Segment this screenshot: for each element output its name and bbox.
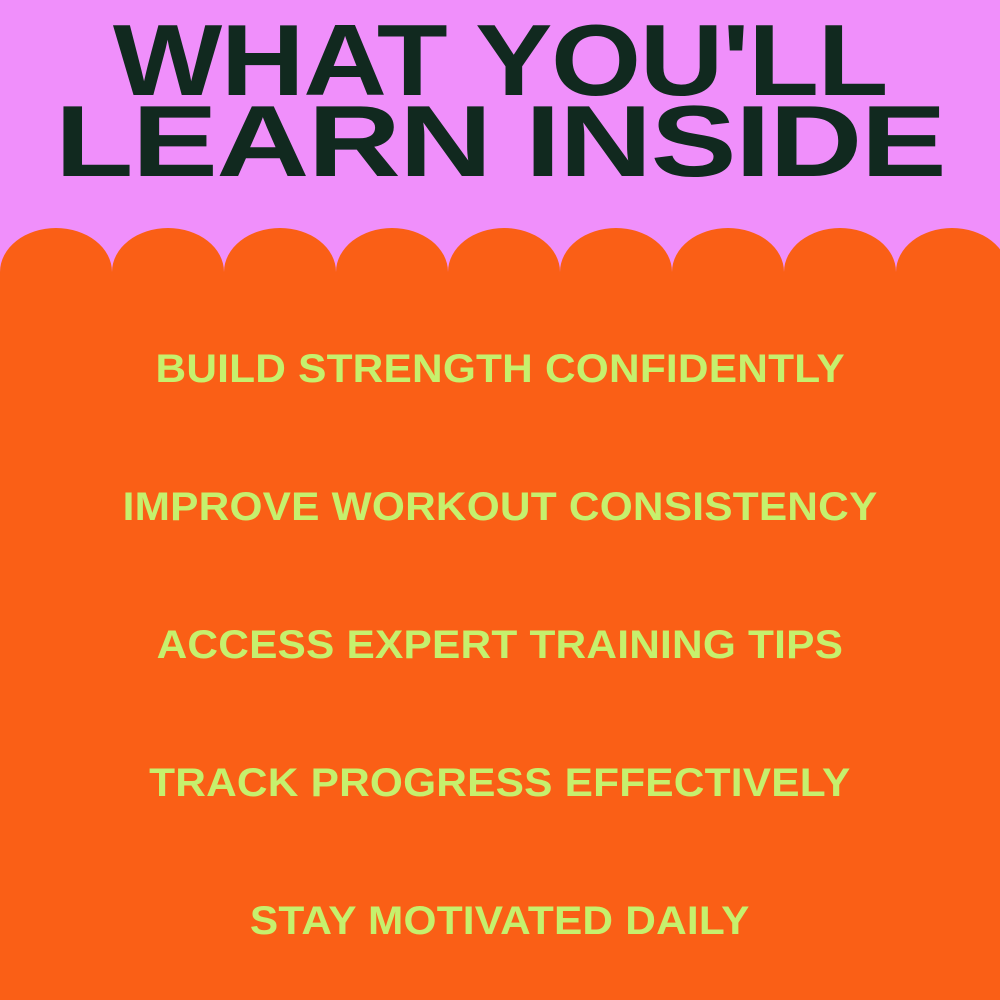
page-title-line-2: LEARN INSIDE [0, 102, 1000, 185]
benefit-label-3: ACCESS EXPERT TRAINING TIPS [157, 625, 844, 665]
benefit-label-5: STAY MOTIVATED DAILY [250, 901, 750, 941]
list-item: STAY MOTIVATED DAILY [0, 852, 1000, 990]
page-title: WHAT YOU'LL LEARN INSIDE [0, 24, 1000, 181]
list-item: TRACK PROGRESS EFFECTIVELY [0, 714, 1000, 852]
header-zone: WHAT YOU'LL LEARN INSIDE [0, 0, 1000, 232]
list-item: ACCESS EXPERT TRAINING TIPS [0, 576, 1000, 714]
benefit-label-4: TRACK PROGRESS EFFECTIVELY [149, 763, 850, 803]
list-item: BUILD STRENGTH CONFIDENTLY [0, 300, 1000, 438]
benefit-label-2: IMPROVE WORKOUT CONSISTENCY [123, 487, 878, 527]
poster-canvas: WHAT YOU'LL LEARN INSIDE BUILD STRENGTH … [0, 0, 1000, 1000]
list-item: IMPROVE WORKOUT CONSISTENCY [0, 438, 1000, 576]
benefits-list: BUILD STRENGTH CONFIDENTLY IMPROVE WORKO… [0, 300, 1000, 990]
benefit-label-1: BUILD STRENGTH CONFIDENTLY [155, 349, 844, 389]
